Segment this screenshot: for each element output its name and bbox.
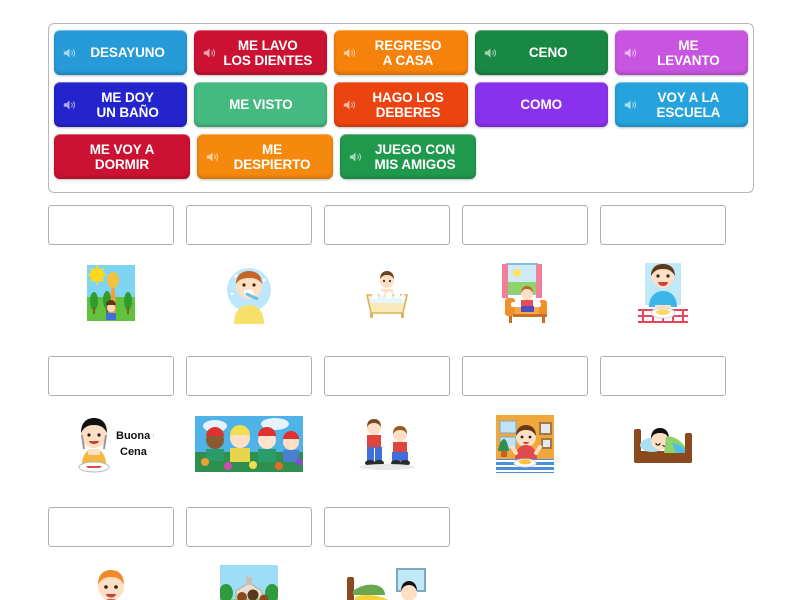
answer-pair xyxy=(186,356,312,485)
answer-pair xyxy=(600,356,726,485)
drop-zone[interactable] xyxy=(186,356,312,396)
image-person-making-the-bed xyxy=(324,554,450,600)
word-tile-me-voy-a-dormir[interactable]: ME VOY ADORMIR xyxy=(54,134,190,179)
drop-zone[interactable] xyxy=(324,507,450,547)
image-children-playing-together-outdoors xyxy=(186,403,312,485)
image-child-in-bathtub xyxy=(324,252,450,334)
word-tile-me-doy-un-bano[interactable]: ME DOYUN BAÑO xyxy=(54,82,187,127)
word-bank-row-1: DESAYUNO ME LAVOLOS DIENTES REGRESOA CAS… xyxy=(54,30,748,75)
word-tile-voy-a-la-escuela[interactable]: VOY A LAESCUELA xyxy=(615,82,748,127)
image-child-sitting-on-bed-by-window xyxy=(462,252,588,334)
image-child-brushing-teeth xyxy=(186,252,312,334)
drop-zone[interactable] xyxy=(48,205,174,245)
answer-pair xyxy=(462,356,588,485)
answer-pair xyxy=(48,507,174,600)
drop-zone[interactable] xyxy=(324,356,450,396)
answer-pair xyxy=(600,205,726,334)
word-tile-me-visto[interactable]: ME VISTO xyxy=(194,82,327,127)
answer-pair xyxy=(324,205,450,334)
image-child-writing-homework xyxy=(48,554,174,600)
drop-zone[interactable] xyxy=(462,205,588,245)
drop-zone[interactable] xyxy=(600,356,726,396)
word-tile-me-levanto[interactable]: MELEVANTO xyxy=(615,30,748,75)
drop-zone[interactable] xyxy=(186,205,312,245)
drop-zone[interactable] xyxy=(324,205,450,245)
word-tile-label: ME VOY ADORMIR xyxy=(54,142,190,172)
word-tile-label: REGRESOA CASA xyxy=(334,38,467,68)
image-child-eating-meal-in-room xyxy=(462,403,588,485)
word-tile-label: DESAYUNO xyxy=(54,45,187,60)
word-tile-me-lavo-los-dientes[interactable]: ME LAVOLOS DIENTES xyxy=(194,30,327,75)
answer-grid: Buona Cena Cena xyxy=(48,205,754,600)
image-two-children-playing-on-floor xyxy=(324,403,450,485)
word-tile-regreso-a-casa[interactable]: REGRESOA CASA xyxy=(334,30,467,75)
image-child-eating-dinner-buona-cena: Buona Cena Cena xyxy=(48,403,174,485)
word-bank-row-2: ME DOYUN BAÑO ME VISTO HAGO LOSDEBERES C… xyxy=(54,82,748,127)
word-tile-label: ME DOYUN BAÑO xyxy=(54,90,187,120)
word-tile-desayuno[interactable]: DESAYUNO xyxy=(54,30,187,75)
image-sunrise-child-waking-outdoors xyxy=(48,252,174,334)
answer-row-1 xyxy=(48,205,754,334)
word-tile-ceno[interactable]: CENO xyxy=(475,30,608,75)
word-tile-label: COMO xyxy=(475,97,608,112)
word-tile-como[interactable]: COMO xyxy=(475,82,608,127)
word-tile-label: HAGO LOSDEBERES xyxy=(334,90,467,120)
answer-pair xyxy=(324,507,450,600)
drop-zone[interactable] xyxy=(48,507,174,547)
image-child-eating-at-table xyxy=(600,252,726,334)
image-children-walking-to-school xyxy=(186,554,312,600)
answer-pair xyxy=(186,205,312,334)
word-tile-label: ME VISTO xyxy=(194,97,327,112)
word-tile-hago-los-deberes[interactable]: HAGO LOSDEBERES xyxy=(334,82,467,127)
activity-stage: DESAYUNO ME LAVOLOS DIENTES REGRESOA CAS… xyxy=(0,0,800,600)
drop-zone[interactable] xyxy=(462,356,588,396)
word-tile-label: CENO xyxy=(475,45,608,60)
word-tile-juego-con-mis-amigos[interactable]: JUEGO CONMIS AMIGOS xyxy=(340,134,476,179)
drop-zone[interactable] xyxy=(48,356,174,396)
image-caption: Buona Cena xyxy=(116,430,154,442)
word-tile-label: JUEGO CONMIS AMIGOS xyxy=(340,142,476,172)
word-tile-label: ME LAVOLOS DIENTES xyxy=(194,38,327,68)
answer-pair xyxy=(186,507,312,600)
answer-pair: Buona Cena Cena xyxy=(48,356,174,485)
image-child-sleeping-in-bed xyxy=(600,403,726,485)
drop-zone[interactable] xyxy=(600,205,726,245)
word-tile-label: MELEVANTO xyxy=(615,38,748,68)
answer-row-2: Buona Cena Cena xyxy=(48,356,754,485)
word-tile-label: VOY A LAESCUELA xyxy=(615,90,748,120)
answer-pair xyxy=(324,356,450,485)
answer-pair xyxy=(48,205,174,334)
word-bank-row-3: ME VOY ADORMIR MEDESPIERTO JUEGO CONMIS … xyxy=(54,134,748,179)
svg-text:Cena: Cena xyxy=(120,446,148,458)
answer-row-3 xyxy=(48,507,754,600)
answer-pair xyxy=(462,205,588,334)
drop-zone[interactable] xyxy=(186,507,312,547)
word-bank-container: DESAYUNO ME LAVOLOS DIENTES REGRESOA CAS… xyxy=(48,23,754,193)
word-tile-me-despierto[interactable]: MEDESPIERTO xyxy=(197,134,333,179)
word-tile-label: MEDESPIERTO xyxy=(197,142,333,172)
